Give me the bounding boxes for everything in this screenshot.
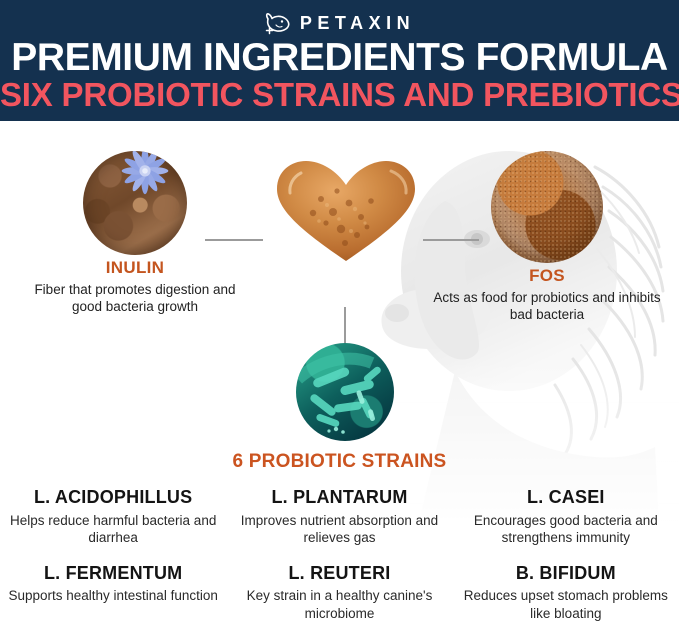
ingredient-node-fos: FOS Acts as food for probiotics and inhi… bbox=[432, 151, 662, 323]
ingredient-node-inulin: INULIN Fiber that promotes digestion and… bbox=[20, 151, 250, 315]
bacteria-microscopy-image bbox=[296, 343, 394, 441]
strain-description: Helps reduce harmful bacteria and diarrh… bbox=[6, 512, 220, 547]
strain-item: B. BIFIDUM Reduces upset stomach problem… bbox=[453, 563, 679, 623]
strain-description: Key strain in a healthy canine's microbi… bbox=[232, 587, 446, 622]
strain-name: L. CASEI bbox=[459, 487, 673, 509]
ingredient-title-inulin: INULIN bbox=[20, 259, 250, 278]
bacteria-node bbox=[287, 343, 403, 441]
strain-item: L. REUTERI Key strain in a healthy canin… bbox=[226, 563, 452, 623]
ingredient-title-fos: FOS bbox=[432, 267, 662, 286]
strain-item: L. PLANTARUM Improves nutrient absorptio… bbox=[226, 487, 452, 547]
strains-grid: L. ACIDOPHILLUS Helps reduce harmful bac… bbox=[0, 487, 679, 622]
strain-description: Improves nutrient absorption and relieve… bbox=[232, 512, 446, 547]
strain-name: L. REUTERI bbox=[232, 563, 446, 585]
strains-section-heading: 6 PROBIOTIC STRAINS bbox=[0, 451, 679, 473]
powder-grain-texture bbox=[491, 151, 603, 263]
strain-name: L. PLANTARUM bbox=[232, 487, 446, 509]
bacilli-shapes-icon bbox=[296, 343, 394, 441]
brand-lockup: PETAXIN bbox=[0, 9, 679, 37]
headline-primary: PREMIUM INGREDIENTS FORMULA bbox=[0, 38, 679, 77]
strain-name: B. BIFIDUM bbox=[459, 563, 673, 585]
ingredient-description-fos: Acts as food for probiotics and inhibits… bbox=[432, 289, 662, 324]
fos-powder-image bbox=[491, 151, 603, 263]
dog-head-medical-cross-icon bbox=[264, 11, 291, 36]
strain-description: Supports healthy intestinal function bbox=[6, 587, 220, 605]
infographic-page: PETAXIN PREMIUM INGREDIENTS FORMULA SIX … bbox=[0, 0, 679, 628]
header-banner: PETAXIN PREMIUM INGREDIENTS FORMULA SIX … bbox=[0, 0, 679, 121]
headline-secondary: SIX PROBIOTIC STRAINS AND PREBIOTICS bbox=[0, 78, 679, 111]
strain-item: L. ACIDOPHILLUS Helps reduce harmful bac… bbox=[0, 487, 226, 547]
heart-treat-icon bbox=[271, 157, 421, 265]
strain-item: L. FERMENTUM Supports healthy intestinal… bbox=[0, 563, 226, 623]
strain-name: L. FERMENTUM bbox=[6, 563, 220, 585]
connector-line-down bbox=[344, 307, 346, 347]
strain-description: Encourages good bacteria and strengthens… bbox=[459, 512, 673, 547]
infographic-body: INULIN Fiber that promotes digestion and… bbox=[0, 121, 679, 628]
ingredient-description-inulin: Fiber that promotes digestion and good b… bbox=[20, 281, 250, 316]
chicory-root-image bbox=[83, 151, 187, 255]
strain-item: L. CASEI Encourages good bacteria and st… bbox=[453, 487, 679, 547]
chicory-flower-icon bbox=[117, 151, 173, 197]
strain-description: Reduces upset stomach problems like bloa… bbox=[459, 587, 673, 622]
brand-name: PETAXIN bbox=[297, 14, 415, 32]
strain-name: L. ACIDOPHILLUS bbox=[6, 487, 220, 509]
center-product-image bbox=[258, 157, 433, 265]
